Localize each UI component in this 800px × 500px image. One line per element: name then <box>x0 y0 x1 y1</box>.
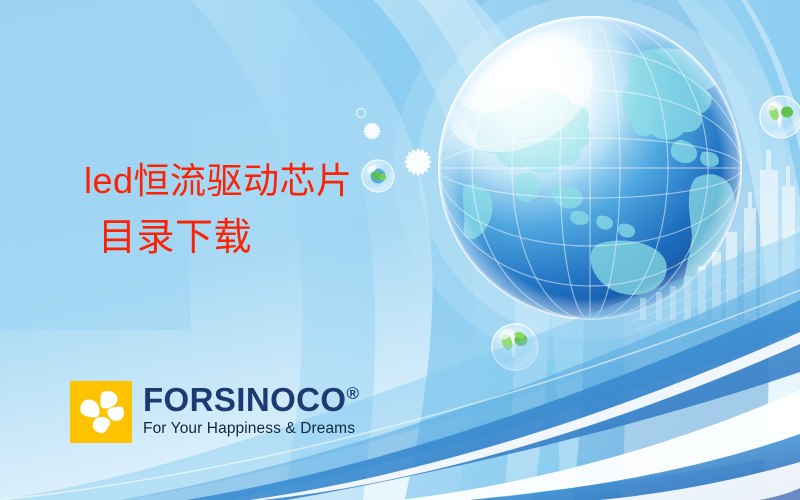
forsinoco-pinwheel-mark <box>70 381 132 443</box>
logo-wordmark-block: FORSINOCO® For Your Happiness & Dreams <box>143 381 359 437</box>
slide-canvas: led恒流驱动芯片 目录下载 FORSINOCO® For Your Happi… <box>0 0 800 500</box>
brand-name-text: FORSINOCO <box>143 381 346 418</box>
pinwheel-icon <box>70 381 132 443</box>
bubble-globe-small <box>362 160 394 192</box>
bubble-sprout-right <box>760 96 800 138</box>
brand-name: FORSINOCO® <box>143 383 359 416</box>
brand-tagline: For Your Happiness & Dreams <box>143 421 359 437</box>
registered-trademark-symbol: ® <box>346 384 359 403</box>
forsinoco-logo-lockup: FORSINOCO® For Your Happiness & Dreams <box>70 381 359 443</box>
